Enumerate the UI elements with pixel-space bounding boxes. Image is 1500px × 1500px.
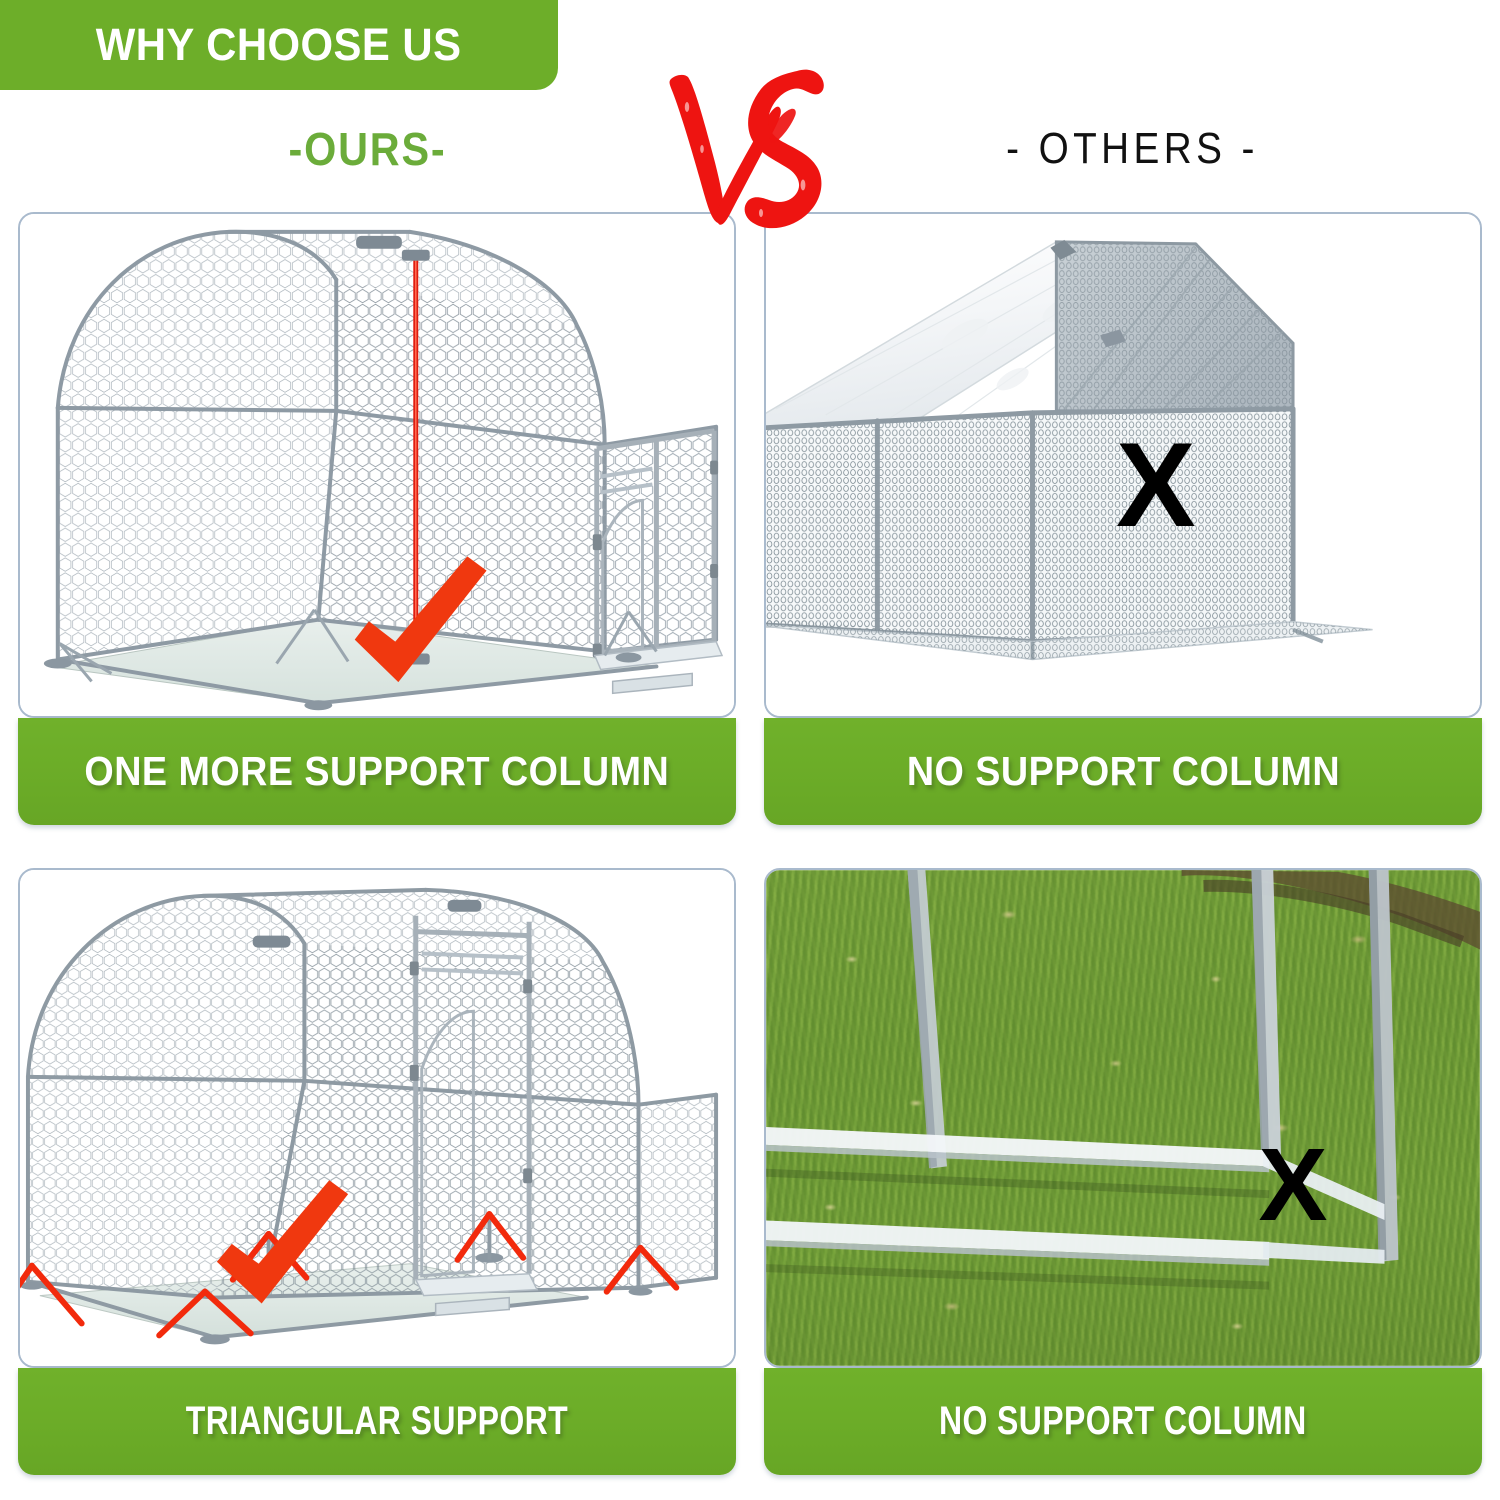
caption-label: NO SUPPORT COLUMN xyxy=(906,748,1339,795)
panel-ours-triangular-support xyxy=(18,868,736,1368)
caption-ours-support-column: ONE MORE SUPPORT COLUMN xyxy=(18,718,736,825)
green-x-icon: X xyxy=(1116,419,1196,552)
panel-ours-support-column xyxy=(18,212,736,718)
caption-label: ONE MORE SUPPORT COLUMN xyxy=(85,748,670,795)
coop-with-triangular-braces-illustration xyxy=(20,870,734,1367)
ours-column-heading: -OURS- xyxy=(37,122,699,176)
coop-with-support-column-illustration xyxy=(20,214,734,717)
peaked-roof-coop-illustration: X xyxy=(766,214,1480,717)
comparison-infographic: WHY CHOOSE US -OURS- - OTHERS - xyxy=(0,0,1500,1500)
green-x-icon: X xyxy=(1259,1126,1328,1242)
why-choose-us-label: WHY CHOOSE US xyxy=(96,19,462,71)
panel-others-no-support-column-top: X xyxy=(764,212,1482,718)
caption-label: TRIANGULAR SUPPORT xyxy=(186,1399,568,1444)
caption-others-no-support-column-top: NO SUPPORT COLUMN xyxy=(764,718,1482,825)
bare-frame-poles-photo-overlay: X xyxy=(766,870,1480,1367)
why-choose-us-badge: WHY CHOOSE US xyxy=(0,0,558,90)
panel-others-no-support-column-bottom: X xyxy=(764,868,1482,1368)
caption-label: NO SUPPORT COLUMN xyxy=(939,1399,1307,1444)
caption-others-no-support-column-bottom: NO SUPPORT COLUMN xyxy=(764,1368,1482,1475)
others-column-heading: - OTHERS - xyxy=(809,124,1456,174)
caption-ours-triangular-support: TRIANGULAR SUPPORT xyxy=(18,1368,736,1475)
